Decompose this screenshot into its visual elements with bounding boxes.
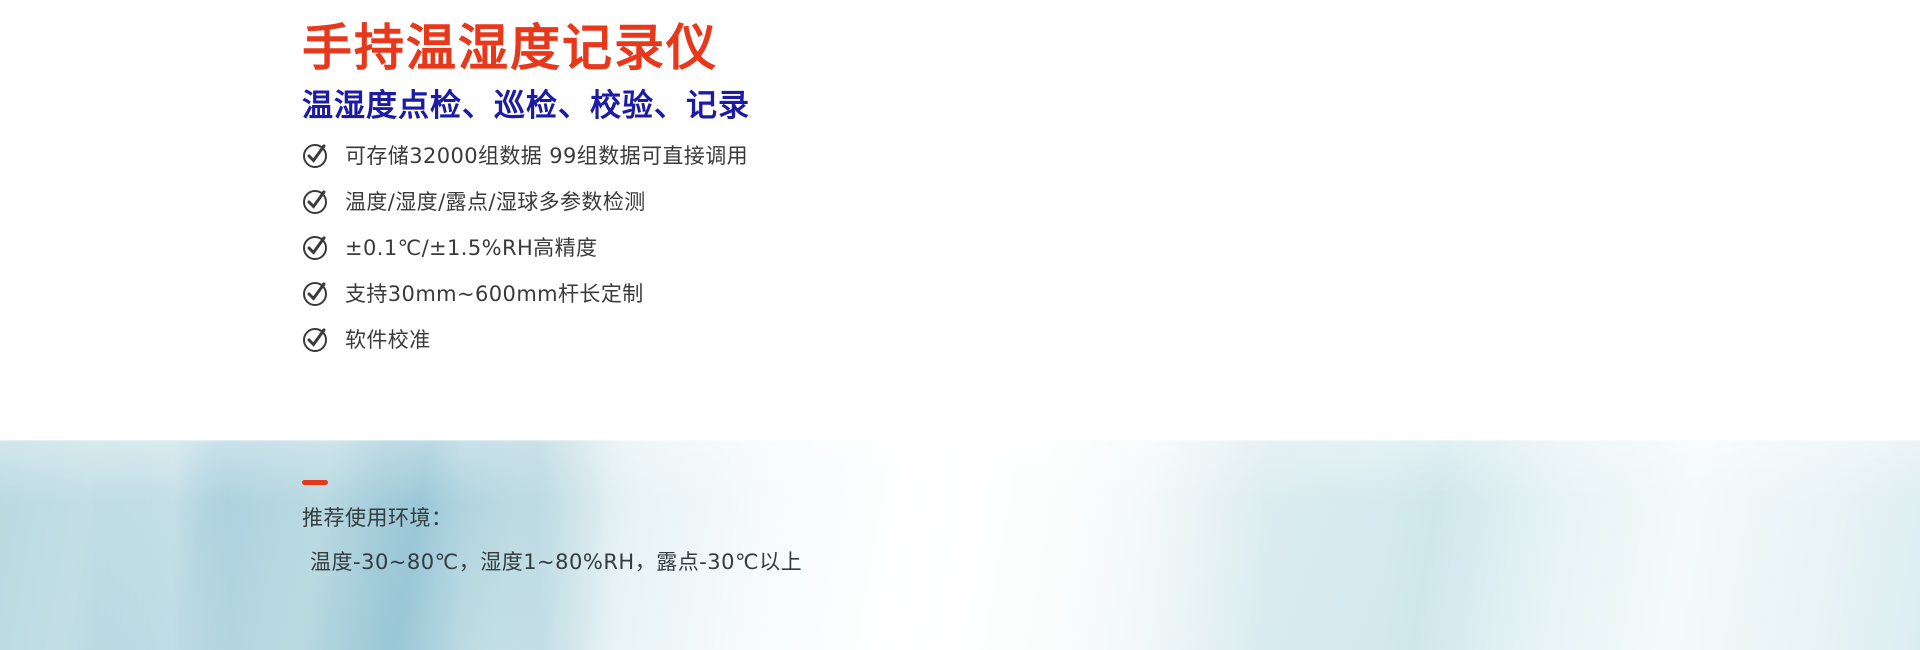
list-item: 软件校准 — [302, 317, 962, 361]
list-item: 可存储32000组数据 99组数据可直接调用 — [302, 133, 962, 177]
check-circle-icon — [302, 142, 329, 169]
feature-text: 软件校准 — [345, 324, 431, 354]
environment-detail: 温度-30~80℃，湿度1~80%RH，露点-30℃以上 — [302, 546, 942, 576]
list-item: 温度/湿度/露点/湿球多参数检测 — [302, 179, 962, 223]
feature-text: 可存储32000组数据 99组数据可直接调用 — [345, 140, 748, 170]
list-item: 支持30mm~600mm杆长定制 — [302, 271, 962, 315]
product-banner: 手持温湿度记录仪 温湿度点检、巡检、校验、记录 可存储32000组数据 99组数… — [0, 0, 1920, 650]
product-image-area: 可拆换探头 HENGKO 52.0 % RH 28.08 ℃ HG970 MAX… — [950, 0, 1920, 650]
feature-text: ±0.1℃/±1.5%RH高精度 — [345, 232, 597, 262]
page-subtitle: 温湿度点检、巡检、校验、记录 — [302, 80, 750, 125]
environment-title: 推荐使用环境： — [302, 502, 942, 532]
feature-text: 温度/湿度/露点/湿球多参数检测 — [345, 186, 646, 216]
check-circle-icon — [302, 326, 329, 353]
environment-block: 推荐使用环境： 温度-30~80℃，湿度1~80%RH，露点-30℃以上 — [302, 480, 942, 576]
text-column: 手持温湿度记录仪 温湿度点检、巡检、校验、记录 可存储32000组数据 99组数… — [0, 0, 1000, 650]
page-title: 手持温湿度记录仪 — [302, 8, 718, 80]
divider-dash — [302, 480, 328, 485]
list-item: ±0.1℃/±1.5%RH高精度 — [302, 225, 962, 269]
feature-text: 支持30mm~600mm杆长定制 — [345, 278, 644, 308]
feature-list: 可存储32000组数据 99组数据可直接调用 温度/湿度/露点/湿球多参数检测 — [302, 133, 962, 363]
check-circle-icon — [302, 188, 329, 215]
check-circle-icon — [302, 234, 329, 261]
check-circle-icon — [302, 280, 329, 307]
